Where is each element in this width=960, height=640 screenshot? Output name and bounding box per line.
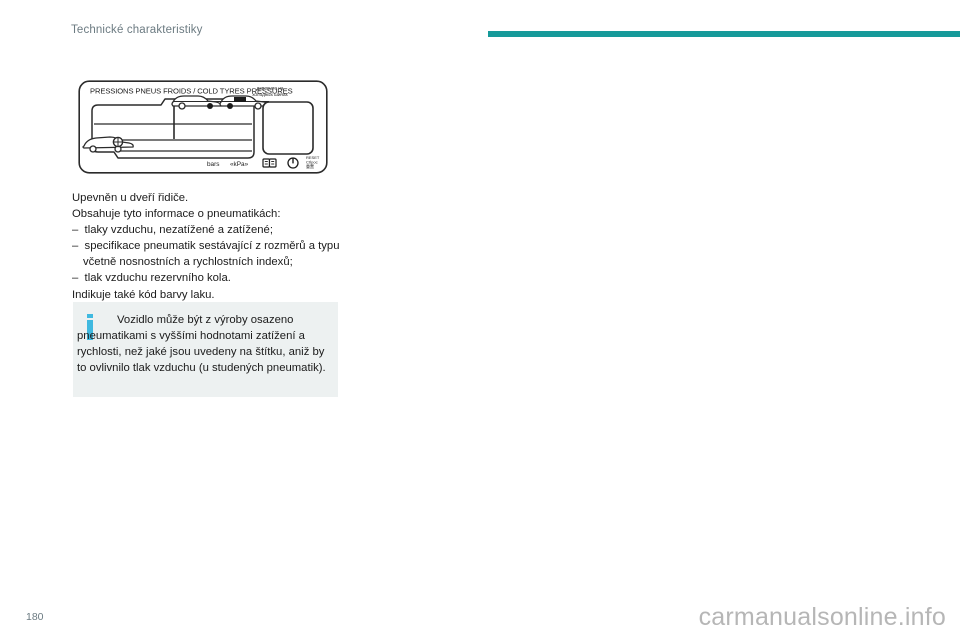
tyre-pressure-label-figure: PRESSIONS PNEUS FROIDS / COLD TYRES PRES… (78, 80, 328, 174)
page-header: Technické charakteristiky (0, 0, 960, 48)
body-line-1: Upevněn u dveří řidiče. (72, 190, 348, 206)
body-bullet-1: – tlaky vzduchu, nezatížené a zatížené; (72, 222, 348, 238)
unit-label-kpa: «kPa» (230, 161, 249, 168)
svg-text:重置: 重置 (306, 163, 314, 169)
body-copy: Upevněn u dveří řidiče. Obsahuje tyto in… (72, 190, 348, 303)
info-callout: Vozidlo může být z výroby osazeno pneuma… (73, 302, 338, 397)
label-side-panel (263, 102, 313, 154)
page-title: Technické charakteristiky (71, 24, 203, 36)
label-heading-ru-line2: холодных шинах (252, 92, 288, 97)
page-number: 180 (26, 611, 44, 623)
site-watermark: carmanualsonline.info (699, 603, 946, 632)
info-callout-text: Vozidlo může být z výroby osazeno pneuma… (77, 312, 335, 376)
body-line-3: Indikuje také kód barvy laku. (72, 287, 348, 303)
label-heading-ru-line1: давление на (257, 86, 284, 91)
tyre-pressure-label-graphic: PRESSIONS PNEUS FROIDS / COLD TYRES PRES… (78, 80, 328, 174)
manual-book-icon (263, 159, 276, 167)
body-bullet-3: – tlak vzduchu rezervního kola. (72, 270, 348, 286)
body-line-2: Obsahuje tyto informace o pneumatikách: (72, 206, 348, 222)
body-bullet-2: – specifikace pneumatik sestávající z ro… (72, 238, 348, 270)
header-accent-rule (488, 31, 960, 37)
unit-label-bars: bars (207, 161, 219, 168)
